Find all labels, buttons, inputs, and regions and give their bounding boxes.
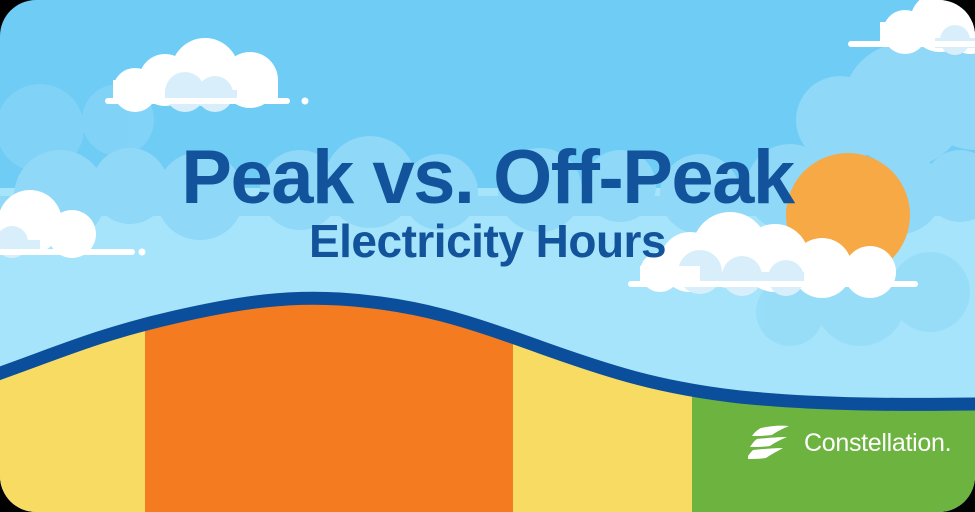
- cloud-baseline-leftmid: [0, 249, 135, 255]
- cloud-dot-leftmid: [139, 249, 146, 256]
- banner-artwork: [0, 0, 975, 512]
- cloud-baseline-right: [628, 281, 918, 287]
- infographic-banner: Peak vs. Off-Peak Electricity Hours Cons…: [0, 0, 975, 512]
- cloud-baseline-topleft: [105, 98, 290, 104]
- cloud-dot-topleft: [302, 98, 309, 105]
- cloud-baseline-topright: [848, 41, 975, 47]
